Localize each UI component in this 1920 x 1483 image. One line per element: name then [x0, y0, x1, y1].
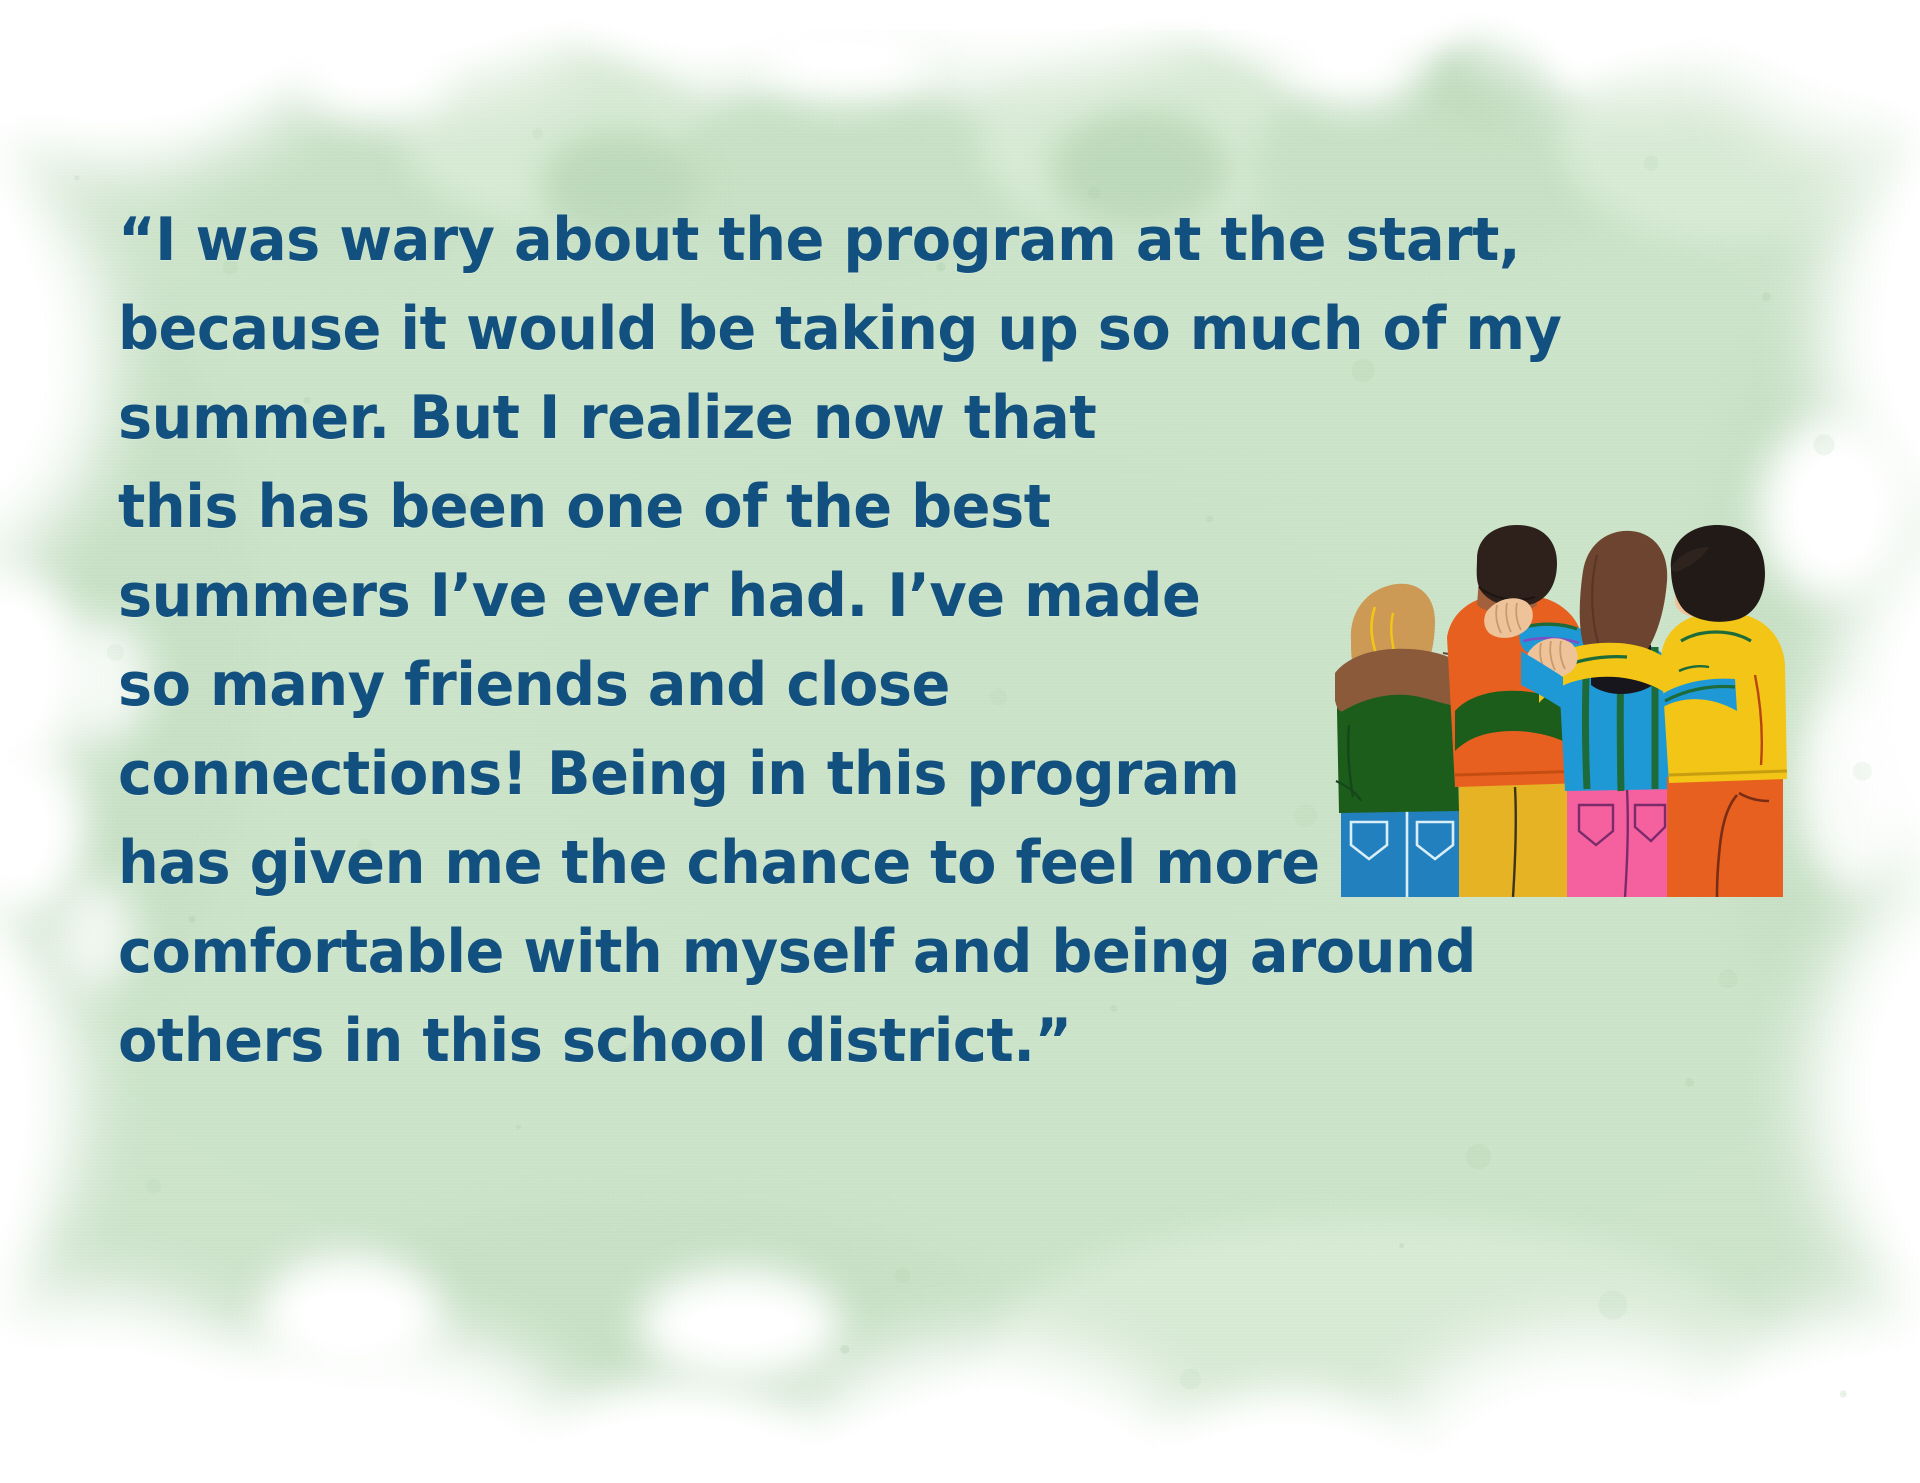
quote-line-9: comfortable with myself and being around: [118, 908, 1350, 997]
quote-line-3: summer. But I realize now that: [118, 374, 1350, 463]
quote-line-4: this has been one of the best: [118, 463, 1350, 552]
paper-edge-eraser: [1290, 25, 1420, 105]
quote-line-7: connections! Being in this program: [118, 730, 1350, 819]
quote-line-10: others in this school district.”: [118, 997, 1350, 1086]
paper-edge-eraser: [300, 30, 450, 120]
wash-light-spot: [1800, 690, 1910, 890]
testimonial-quote: “I was wary about the program at the sta…: [118, 196, 1408, 1086]
quote-line-6: so many friends and close: [118, 641, 1350, 730]
paper-edge-eraser: [260, 1255, 440, 1375]
quote-line-5: summers I’ve ever had. I’ve made: [118, 552, 1350, 641]
quote-line-2: because it would be taking up so much of…: [118, 285, 1350, 374]
figure4-trousers: [1667, 777, 1783, 897]
figure3-jeans: [1567, 787, 1671, 897]
quote-line-8: has given me the chance to feel more: [118, 819, 1350, 908]
quote-line-1: “I was wary about the program at the sta…: [118, 196, 1350, 285]
figure-far-right: [1661, 525, 1787, 897]
figure4-hair: [1671, 525, 1765, 622]
quote-card-slide: “I was wary about the program at the sta…: [0, 0, 1920, 1483]
paper-edge-eraser: [640, 1270, 840, 1380]
paper-edge-eraser: [760, 20, 930, 100]
